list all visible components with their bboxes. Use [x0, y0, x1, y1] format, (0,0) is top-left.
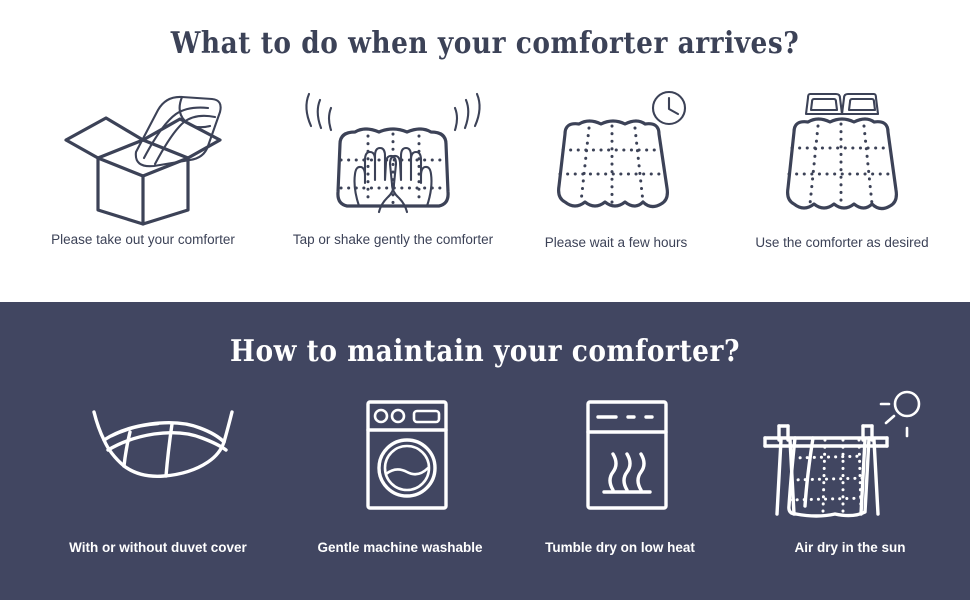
arrival-section-title: What to do when your comforter arrives? — [58, 26, 912, 61]
comforter-with-clock-icon — [505, 88, 727, 223]
maintenance-step-2: Gentle machine washable — [280, 388, 520, 578]
arrival-step-1: Please take out your comforter — [18, 88, 268, 268]
pillow-icon — [806, 94, 878, 114]
bed-with-pillows-icon — [722, 88, 962, 223]
maintenance-step-2-caption: Gentle machine washable — [280, 540, 520, 555]
arrival-step-4: Use the comforter as desired — [722, 88, 962, 268]
arrival-step-2-caption: Tap or shake gently the comforter — [268, 232, 518, 247]
hands-tapping-comforter-icon — [268, 88, 518, 223]
maintenance-step-3-caption: Tumble dry on low heat — [505, 540, 735, 555]
maintenance-step-1: With or without duvet cover — [38, 388, 278, 578]
arrival-steps-row: Please take out your comforter — [0, 88, 970, 268]
maintenance-section: How to maintain your comforter? With or … — [0, 302, 970, 600]
duvet-cover-icon — [38, 388, 278, 528]
maintenance-step-4-caption: Air dry in the sun — [730, 540, 970, 555]
maintenance-step-3: Tumble dry on low heat — [505, 388, 735, 578]
tumble-dryer-icon — [505, 388, 735, 528]
drying-rack-with-sun-icon — [730, 388, 970, 528]
maintenance-step-4: Air dry in the sun — [730, 388, 970, 578]
washing-machine-icon — [280, 388, 520, 528]
infographic-page: What to do when your comforter arrives? — [0, 0, 970, 600]
open-box-with-comforter-icon — [18, 88, 268, 223]
maintenance-steps-row: With or without duvet cover — [0, 388, 970, 578]
arrival-step-2: Tap or shake gently the comforter — [268, 88, 518, 268]
arrival-step-1-caption: Please take out your comforter — [18, 232, 268, 247]
maintenance-step-1-caption: With or without duvet cover — [38, 540, 278, 555]
arrival-step-3-caption: Please wait a few hours — [505, 235, 727, 250]
arrival-step-4-caption: Use the comforter as desired — [722, 235, 962, 250]
clock-icon — [653, 92, 685, 124]
arrival-step-3: Please wait a few hours — [505, 88, 727, 268]
maintenance-section-title: How to maintain your comforter? — [58, 334, 912, 369]
arrival-section: What to do when your comforter arrives? — [0, 0, 970, 302]
sun-icon — [881, 392, 919, 436]
